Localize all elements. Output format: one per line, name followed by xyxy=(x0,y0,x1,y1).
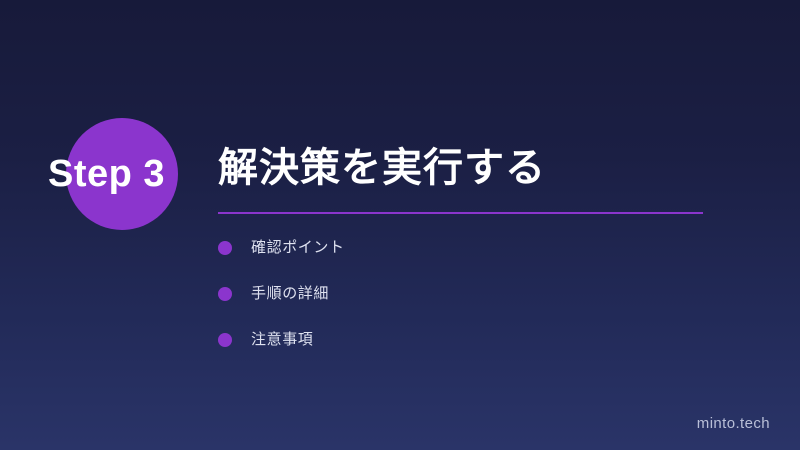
list-item: 手順の詳細 xyxy=(218,287,698,333)
list-item: 確認ポイント xyxy=(218,241,698,287)
list-item: 注意事項 xyxy=(218,333,698,379)
footer-brand: minto.tech xyxy=(697,415,770,432)
slide-title: 解決策を実行する xyxy=(218,141,546,195)
bullet-dot-icon xyxy=(218,287,232,301)
step-badge-label: Step 3 xyxy=(48,152,208,196)
bullet-item-label: 注意事項 xyxy=(251,330,313,350)
bullet-item-label: 確認ポイント xyxy=(251,238,345,258)
slide-canvas: Step 3 解決策を実行する 確認ポイント 手順の詳細 注意事項 minto.… xyxy=(0,0,800,450)
bullet-dot-icon xyxy=(218,333,232,347)
bullet-item-label: 手順の詳細 xyxy=(251,284,329,304)
bullet-list: 確認ポイント 手順の詳細 注意事項 xyxy=(218,241,698,379)
bullet-dot-icon xyxy=(218,241,232,255)
title-divider xyxy=(218,212,703,214)
